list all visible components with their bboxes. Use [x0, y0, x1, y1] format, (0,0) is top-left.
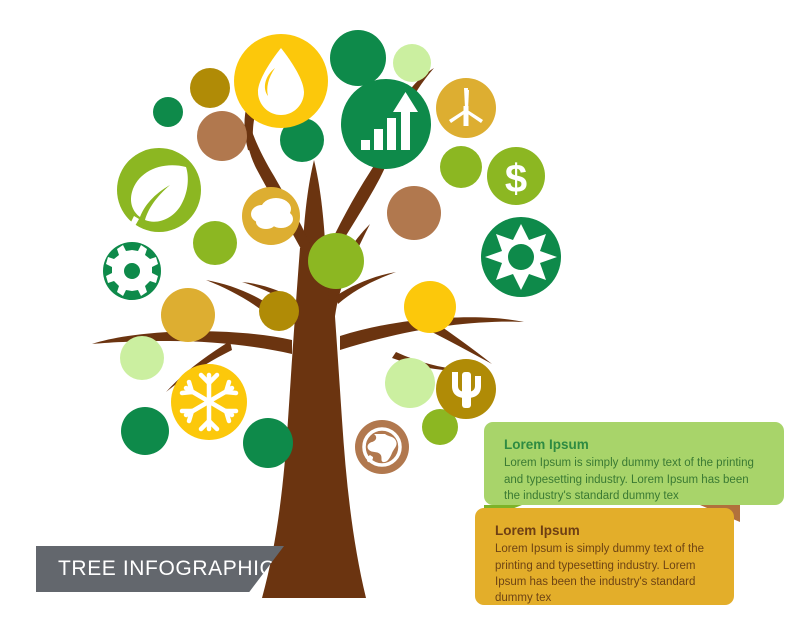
callout-green[interactable]: Lorem Ipsum Lorem Ipsum is simply dummy … — [484, 422, 784, 505]
callout-amber[interactable]: Lorem Ipsum Lorem Ipsum is simply dummy … — [475, 508, 734, 605]
node-wind-turbine[interactable] — [436, 78, 496, 138]
node-cloud[interactable] — [242, 187, 300, 245]
callout-green-title: Lorem Ipsum — [504, 436, 764, 454]
node-dollar[interactable]: $ — [487, 147, 545, 205]
node-bar-chart[interactable] — [341, 79, 431, 169]
infographic-canvas: $ — [0, 0, 800, 623]
callout-green-body: Lorem Ipsum is simply dummy text of the … — [504, 455, 764, 504]
node-sun[interactable] — [481, 217, 561, 297]
globe-icon — [364, 429, 400, 465]
node-cactus[interactable] — [436, 359, 496, 419]
dollar-sign-icon: $ — [505, 157, 527, 201]
node-circle — [341, 79, 431, 169]
callout-amber-title: Lorem Ipsum — [495, 522, 714, 540]
node-leaf[interactable] — [117, 148, 201, 232]
node-snowflake[interactable] — [171, 364, 247, 440]
node-gear[interactable] — [103, 242, 161, 300]
node-globe[interactable] — [355, 420, 409, 474]
node-water-drop[interactable] — [234, 34, 328, 128]
title-banner: TREE INFOGRAPHIC — [36, 546, 284, 592]
page-title: TREE INFOGRAPHIC — [36, 557, 275, 581]
callout-amber-body: Lorem Ipsum is simply dummy text of the … — [495, 541, 714, 606]
